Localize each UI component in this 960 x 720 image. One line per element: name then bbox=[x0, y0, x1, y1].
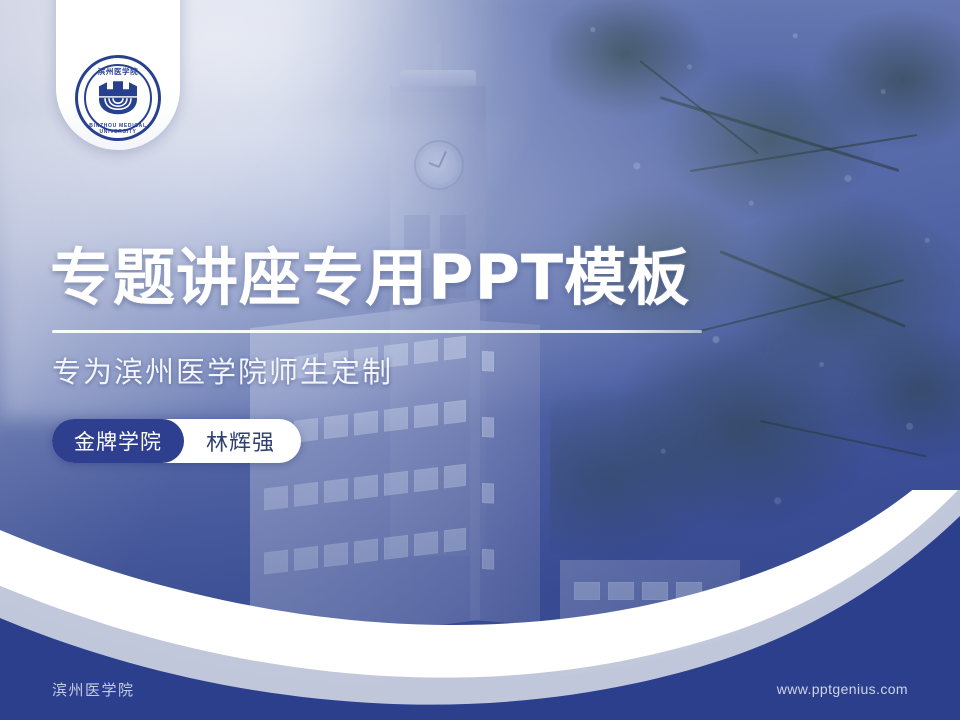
emblem-mountain-mark bbox=[96, 77, 140, 117]
presenter-badge: 金牌学院 林辉强 bbox=[52, 419, 301, 463]
slide-title: 专题讲座专用PPT模板 bbox=[50, 240, 690, 316]
emblem-english-name: BINZHOU MEDICAL UNIVERSITY bbox=[75, 123, 161, 135]
footer-website-url: www.pptgenius.com bbox=[777, 681, 908, 697]
presenter-name: 林辉强 bbox=[184, 425, 275, 457]
badge-tag-label: 金牌学院 bbox=[52, 419, 184, 463]
university-logo: 滨州医学院 BINZHOU MEDICAL UNIVERSITY bbox=[75, 55, 161, 141]
presentation-slide: 滨州医学院 BINZHOU MEDICAL UNIVERSITY 专题讲座专用P… bbox=[0, 0, 960, 720]
slide-subtitle: 专为滨州医学院师生定制 bbox=[52, 352, 393, 392]
footer-university-name: 滨州医学院 bbox=[52, 679, 135, 700]
clock-face bbox=[414, 140, 464, 190]
title-divider bbox=[52, 330, 702, 333]
emblem-chinese-name: 滨州医学院 bbox=[75, 66, 161, 77]
